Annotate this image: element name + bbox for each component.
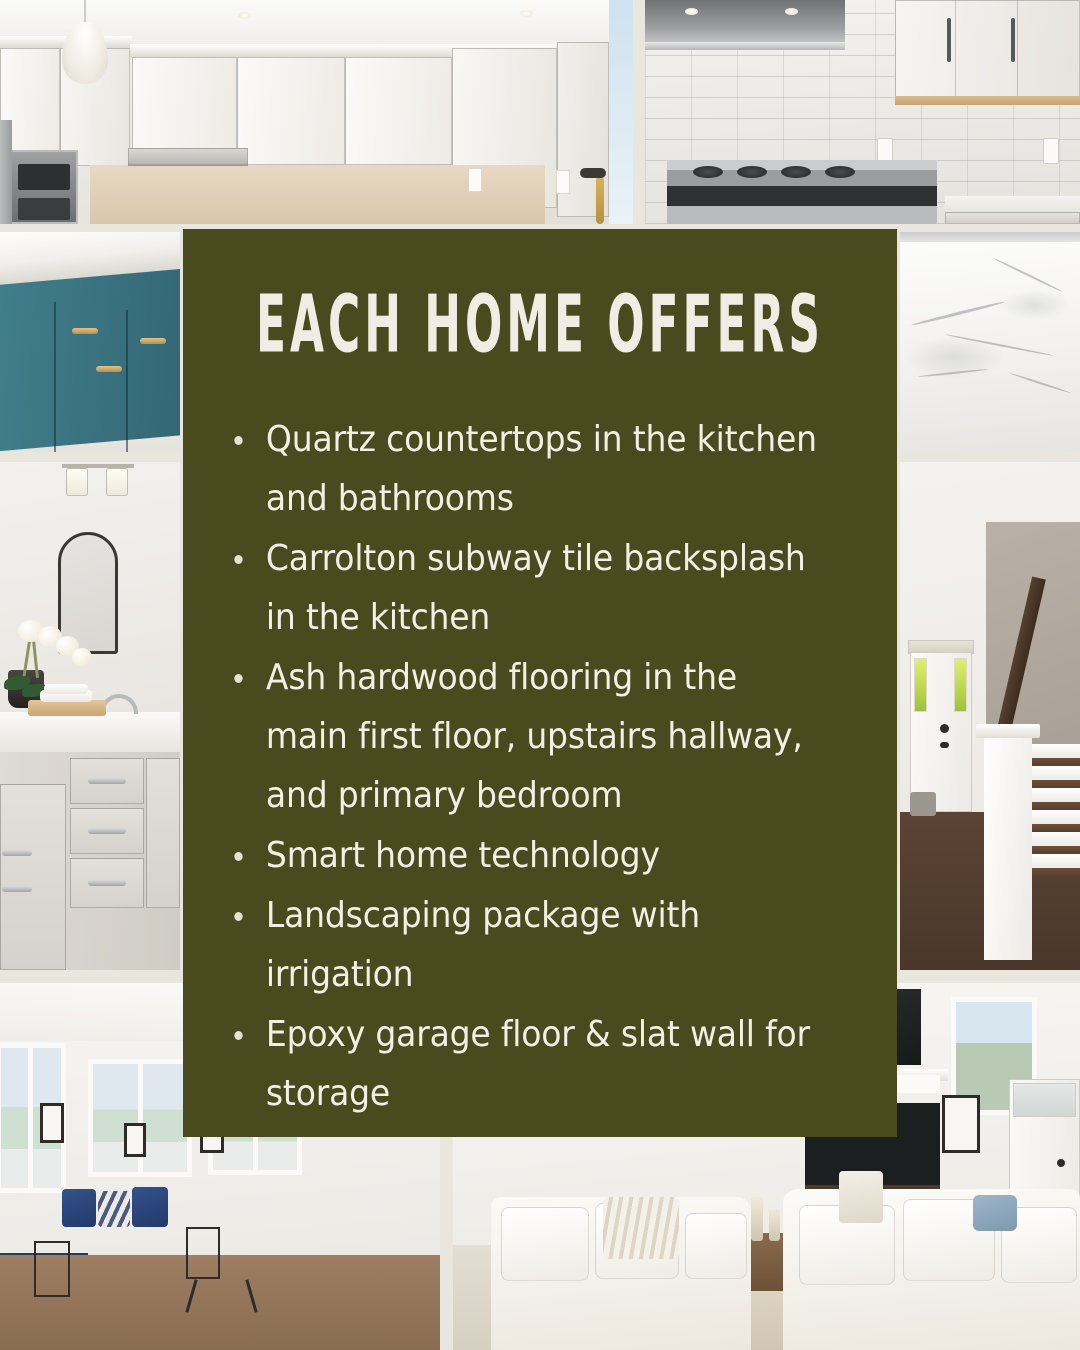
list-item: Landscaping package with irrigation <box>225 886 828 1004</box>
list-item: Smart home technology <box>225 826 828 885</box>
list-item: Epoxy garage floor & slat wall for stora… <box>225 1005 828 1123</box>
photo-entryway-with-staircase-and-front-door <box>900 462 1080 970</box>
photo-white-kitchen-with-pendant-and-wall-ovens <box>0 0 633 224</box>
photo-subway-tile-backsplash-with-gas-range <box>645 0 1080 224</box>
photo-bathroom-vanity-with-arched-mirror-and-orchid <box>0 462 180 970</box>
page-title: EACH HOME OFFERS <box>254 285 825 364</box>
list-item: Quartz countertops in the kitchen and ba… <box>225 410 828 528</box>
features-list: Quartz countertops in the kitchen and ba… <box>225 410 873 1123</box>
each-home-offers-card: EACH HOME OFFERS Quartz countertops in t… <box>183 229 897 1137</box>
list-item: Carrolton subway tile backsplash in the … <box>225 529 828 647</box>
photo-teal-kitchen-island-with-quartz-counter <box>0 232 180 452</box>
photo-marble-quartz-countertop-closeup <box>900 232 1080 452</box>
collage-poster: EACH HOME OFFERS Quartz countertops in t… <box>0 0 1080 1350</box>
list-item: Ash hardwood flooring in the main first … <box>225 648 828 825</box>
